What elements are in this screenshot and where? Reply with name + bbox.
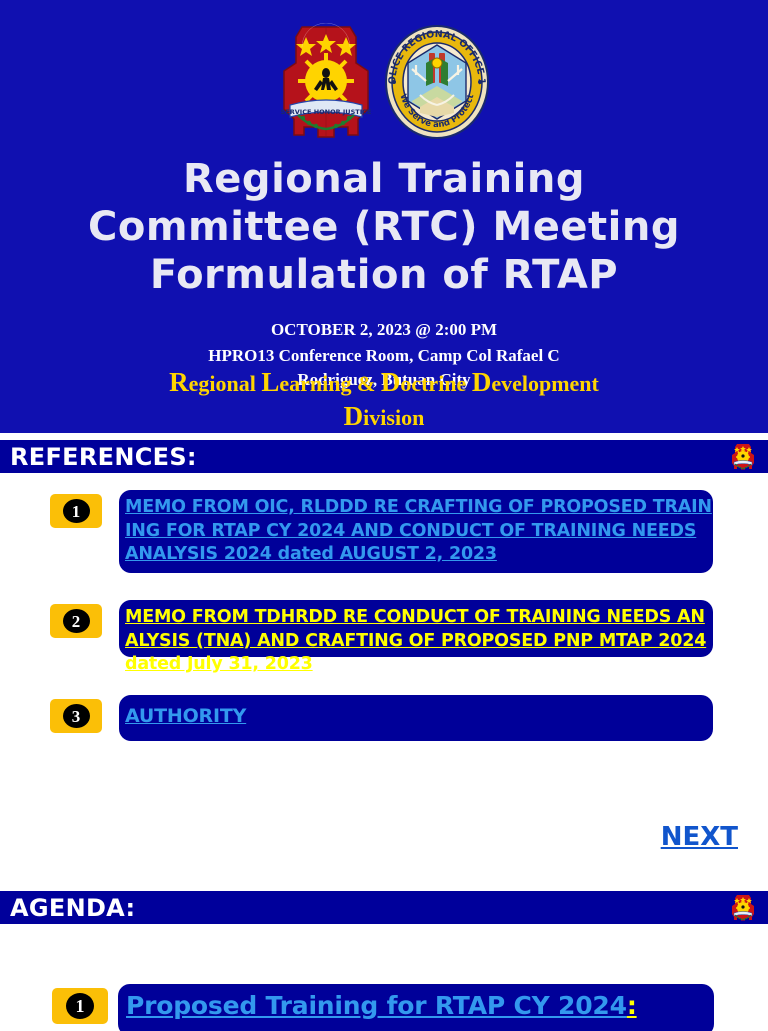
reference-item-2[interactable]: 2 MEMO FROM TDHRDD RE CONDUCT OF TRAININ… [0,600,768,657]
logo-row: SERVICE HONOR JUSTICE [0,22,768,142]
reference-link-2[interactable]: MEMO FROM TDHRDD RE CONDUCT OF TRAINING … [125,606,713,677]
reference-link-1[interactable]: MEMO FROM OIC, RLDDD RE CRAFTING OF PROP… [125,496,713,567]
reference-number-badge-2: 2 [50,604,102,638]
agenda-slide: AGENDA: [0,891,768,1031]
agenda-colon-1: : [627,991,637,1020]
philippine-national-police-seal-icon: SERVICE HONOR JUSTICE [276,23,376,141]
reference-box-3[interactable]: AUTHORITY [119,695,713,741]
meeting-datetime: OCTOBER 2, 2023 @ 2:00 PM [0,318,768,342]
reference-item-1[interactable]: 1 MEMO FROM OIC, RLDDD RE CRAFTING OF PR… [0,490,768,573]
division-name-text: Regional Learning & Doctrine Development… [164,366,604,433]
reference-number-badge-3: 3 [50,699,102,733]
reference-box-2[interactable]: MEMO FROM TDHRDD RE CONDUCT OF TRAINING … [119,600,713,657]
agenda-link-1[interactable]: Proposed Training for RTAP CY 2024 [126,991,627,1020]
reference-item-3[interactable]: 3 AUTHORITY [0,695,768,741]
reference-number-3: 3 [63,704,90,728]
references-section-bar: REFERENCES: [0,440,768,473]
references-section-title: REFERENCES: [10,443,197,471]
references-slide: REFERENCES: [0,440,768,884]
reference-link-3[interactable]: AUTHORITY [125,705,713,729]
slide-separator-2 [0,884,768,891]
page-title: Regional Training Committee (RTC) Meetin… [0,155,768,299]
agenda-number-1: 1 [66,993,94,1019]
agenda-section-title: AGENDA: [10,894,135,922]
reference-number-badge-1: 1 [50,494,102,528]
title-slide: SERVICE HONOR JUSTICE [0,0,768,433]
title-line-1: Regional Training [0,155,768,203]
reference-number-2: 2 [63,609,90,633]
next-link-wrap[interactable]: NEXT [618,822,738,852]
svg-text:SERVICE HONOR JUSTICE: SERVICE HONOR JUSTICE [281,108,372,116]
division-name: Regional Learning & Doctrine Development… [0,366,768,433]
slide-separator-1 [0,433,768,440]
title-line-3: Formulation of RTAP [0,251,768,299]
pnp-seal-icon [730,443,756,475]
title-line-2: Committee (RTC) Meeting [0,203,768,251]
title-meta: OCTOBER 2, 2023 @ 2:00 PM HPRO13 Confere… [0,318,768,433]
agenda-number-badge-1: 1 [52,988,108,1024]
reference-box-1[interactable]: MEMO FROM OIC, RLDDD RE CRAFTING OF PROP… [119,490,713,573]
next-link[interactable]: NEXT [661,822,738,852]
pnp-seal-icon [730,894,756,926]
police-regional-office-13-seal-icon: POLICE REGIONAL OFFICE 13 We Serve and P… [382,23,492,141]
agenda-section-bar: AGENDA: [0,891,768,924]
reference-number-1: 1 [63,499,90,523]
